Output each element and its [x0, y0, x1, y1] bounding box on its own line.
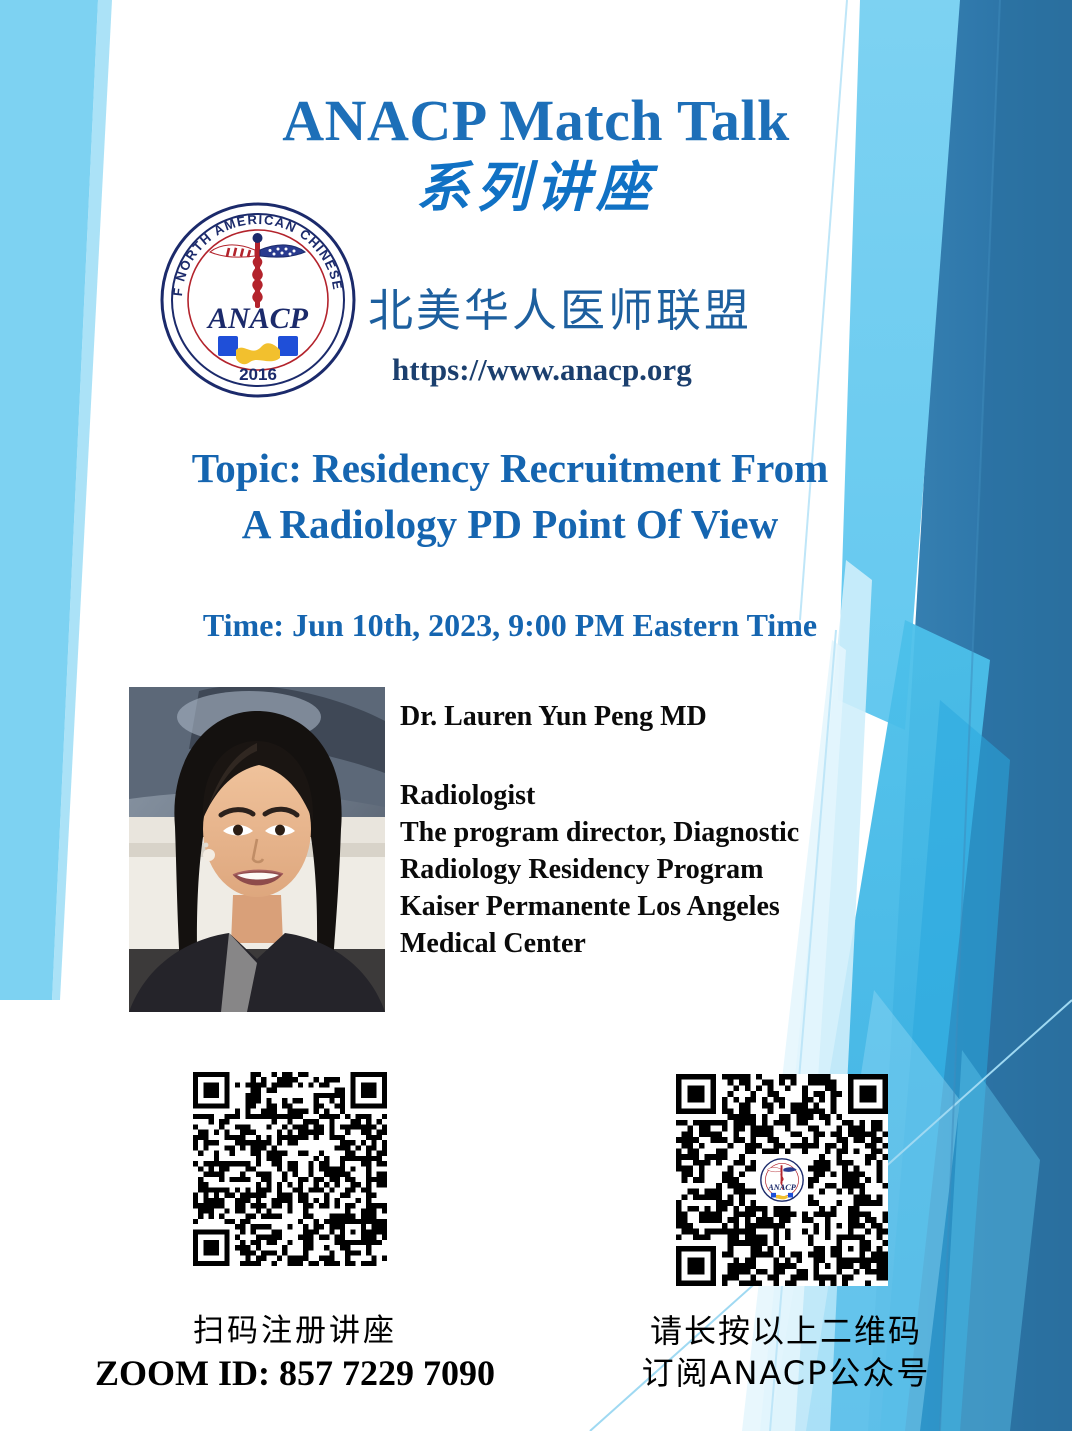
zoom-id: ZOOM ID: 857 7229 7090: [55, 1350, 535, 1396]
speaker-roles: Radiologist The program director, Diagno…: [400, 777, 940, 962]
registration-qr-code[interactable]: [193, 1072, 387, 1266]
wechat-caption: 请长按以上二维码 订阅ANACP公众号: [596, 1310, 976, 1394]
speaker-headshot: [129, 687, 385, 1012]
speaker-role-line: Radiology Residency Program: [400, 851, 940, 888]
organization-url[interactable]: https://www.anacp.org: [392, 352, 692, 388]
wechat-caption-line-1: 请长按以上二维码: [596, 1310, 976, 1352]
svg-text:ANACP: ANACP: [206, 302, 309, 335]
registration-caption: 扫码注册讲座 ZOOM ID: 857 7229 7090: [55, 1312, 535, 1396]
poster-content: ANACP Match Talk 系列讲座 ALLIANCE OF NORTH …: [0, 0, 1072, 1431]
speaker-role-line: Radiologist: [400, 777, 940, 814]
page-title: ANACP Match Talk: [0, 90, 1072, 152]
speaker-role-line: The program director, Diagnostic: [400, 814, 940, 851]
topic-line-2: A Radiology PD Point Of View: [40, 496, 980, 552]
speaker-name: Dr. Lauren Yun Peng MD: [400, 698, 940, 735]
speaker-role-line: Kaiser Permanente Los Angeles: [400, 888, 940, 925]
svg-text:ANACP: ANACP: [767, 1183, 797, 1192]
poster-canvas: ANACP Match Talk 系列讲座 ALLIANCE OF NORTH …: [0, 0, 1072, 1431]
qr-embedded-anacp-logo-icon: ANACP: [756, 1154, 808, 1206]
speaker-info: Dr. Lauren Yun Peng MD Radiologist The p…: [400, 698, 940, 962]
registration-caption-chinese: 扫码注册讲座: [55, 1312, 535, 1350]
wechat-caption-line-2: 订阅ANACP公众号: [596, 1352, 976, 1394]
organization-name-chinese: 北美华人医师联盟: [368, 285, 752, 337]
speaker-role-line: Medical Center: [400, 925, 940, 962]
svg-text:2016: 2016: [239, 365, 277, 384]
topic-line-1: Topic: Residency Recruitment From: [40, 440, 980, 496]
event-time: Time: Jun 10th, 2023, 9:00 PM Eastern Ti…: [40, 605, 980, 645]
topic-heading: Topic: Residency Recruitment From A Radi…: [40, 440, 980, 552]
anacp-seal-logo: ALLIANCE OF NORTH AMERICAN CHINESE PHYSI…: [158, 200, 358, 400]
wechat-official-account-qr-code[interactable]: ANACP: [676, 1074, 888, 1286]
